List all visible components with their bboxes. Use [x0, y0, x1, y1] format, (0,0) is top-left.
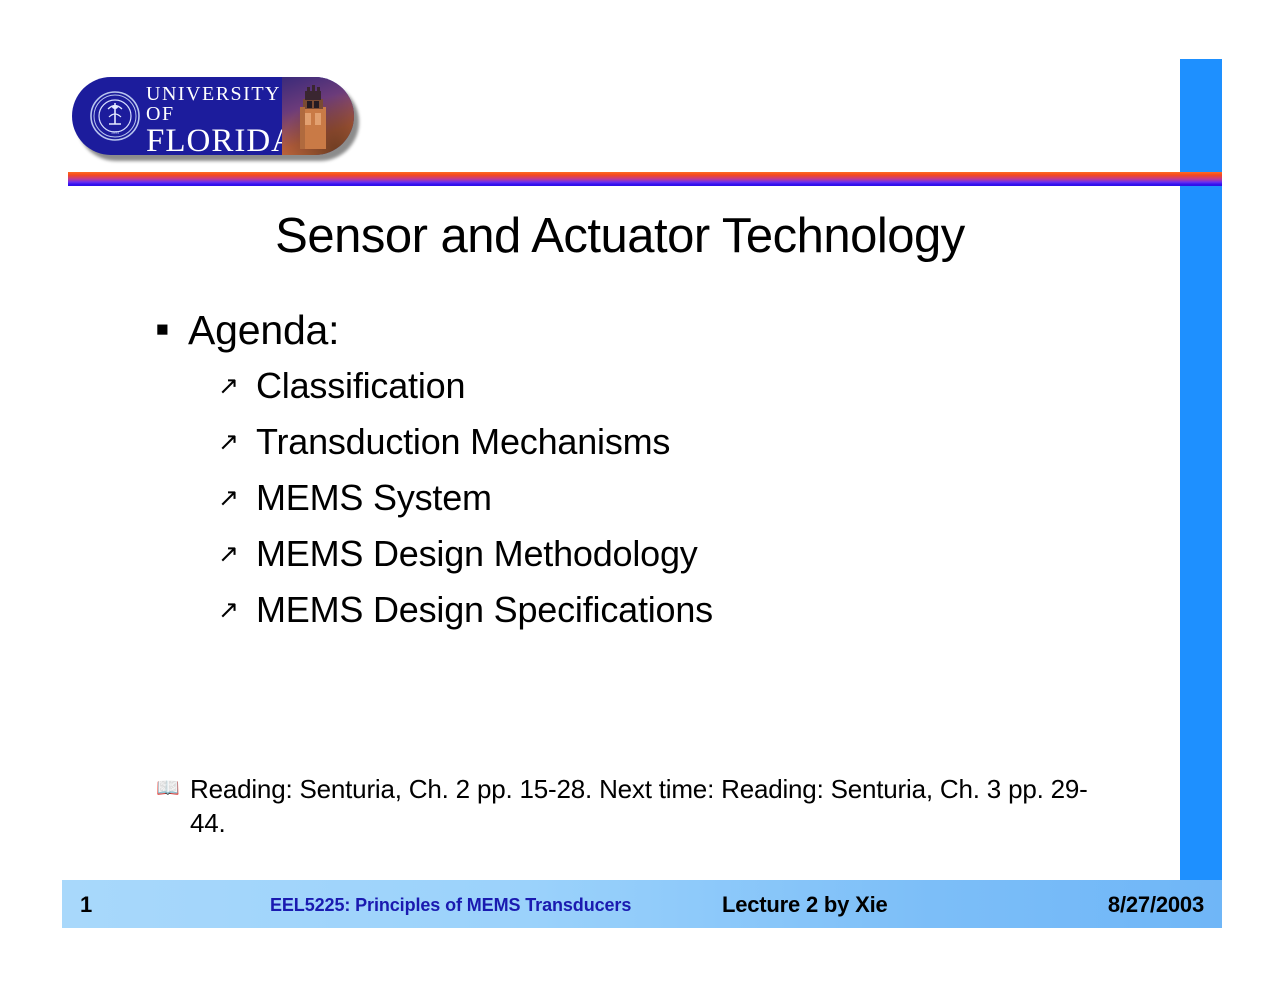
- page-title: Sensor and Actuator Technology: [70, 208, 1170, 264]
- arrow-bullet-icon: ↗: [150, 473, 248, 523]
- lecture-info: Lecture 2 by Xie: [722, 892, 888, 918]
- university-seal-icon: 1853: [90, 91, 140, 141]
- list-item: ↗ Classification: [150, 361, 1150, 417]
- university-of-florida-logo: 1853 UNIVERSITY OF FLORIDA: [72, 77, 354, 155]
- slide-footer: 1 EEL5225: Principles of MEMS Transducer…: [62, 880, 1222, 928]
- list-item-label: MEMS Design Methodology: [248, 529, 698, 579]
- list-item: ↗ MEMS Design Methodology: [150, 529, 1150, 585]
- list-item: ↗ MEMS System: [150, 473, 1150, 529]
- agenda-item-list: ↗ Classification ↗ Transduction Mechanis…: [150, 361, 1150, 641]
- arrow-bullet-icon: ↗: [150, 417, 248, 467]
- arrow-bullet-icon: ↗: [150, 585, 248, 635]
- reading-assignment-text: Reading: Senturia, Ch. 2 pp. 15-28. Next…: [190, 772, 1096, 840]
- agenda-heading-label: Agenda:: [188, 305, 339, 355]
- agenda-heading: ■ Agenda:: [150, 305, 1150, 355]
- arrow-bullet-icon: ↗: [150, 529, 248, 579]
- reading-assignment-note: 📖 Reading: Senturia, Ch. 2 pp. 15-28. Ne…: [156, 772, 1096, 840]
- century-tower-photo: [282, 77, 354, 155]
- course-title: EEL5225: Principles of MEMS Transducers: [270, 895, 631, 916]
- open-book-icon: 📖: [156, 772, 190, 806]
- header-divider-bar: [68, 172, 1222, 186]
- slide-date: 8/27/2003: [1108, 892, 1204, 918]
- list-item-label: Classification: [248, 361, 465, 411]
- slide-body: ■ Agenda: ↗ Classification ↗ Transductio…: [150, 305, 1150, 641]
- list-item: ↗ Transduction Mechanisms: [150, 417, 1150, 473]
- list-item-label: MEMS Design Specifications: [248, 585, 713, 635]
- list-item: ↗ MEMS Design Specifications: [150, 585, 1150, 641]
- tower-illustration-icon: [296, 85, 330, 149]
- page-number: 1: [80, 892, 92, 918]
- square-bullet-icon: ■: [150, 305, 188, 355]
- arrow-bullet-icon: ↗: [150, 361, 248, 411]
- list-item-label: Transduction Mechanisms: [248, 417, 670, 467]
- svg-text:1853: 1853: [111, 130, 119, 135]
- list-item-label: MEMS System: [248, 473, 492, 523]
